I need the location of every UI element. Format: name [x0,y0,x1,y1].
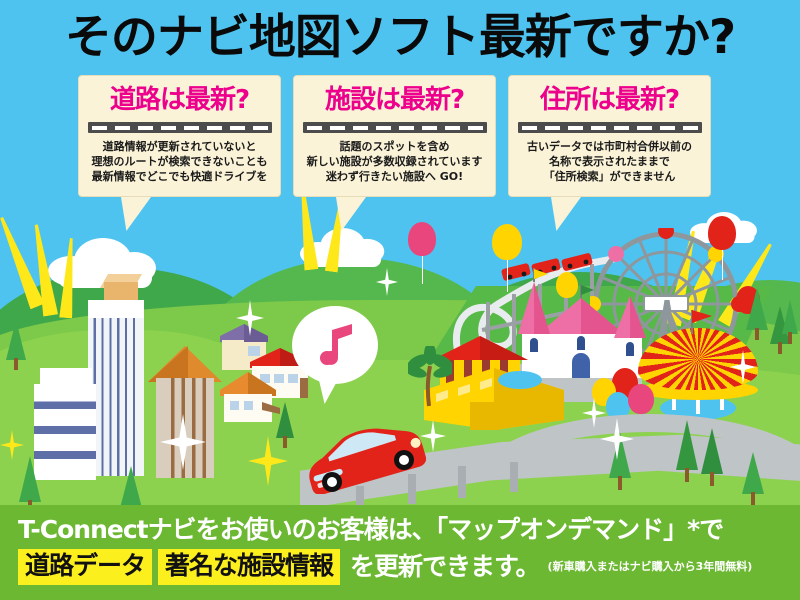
road-pillar [510,462,518,492]
tree-icon [780,300,800,344]
road-pillar [458,466,466,498]
tree-icon [744,288,770,340]
bubble-body: 古いデータでは市町村合併以前の 名称で表示されたままで 「住所検索」ができません [509,139,710,184]
road-divider-icon [518,122,702,133]
tree-icon [274,402,296,448]
banner-tail-text: を更新できます。 [350,552,540,582]
highlight-facility-info: 著名な施設情報 [158,549,340,585]
bubble-body-line: 迷わず行きたい施設へ GO! [294,169,495,184]
banner-headline: T-Connectナビをお使いのお客様は、「マップオンデマンド」*で [0,505,800,546]
bubble-title: 道路は最新? [79,83,280,117]
tree-icon [740,452,766,506]
road-divider-icon [303,122,487,133]
office-tower-icon [88,318,144,476]
bottom-banner: T-Connectナビをお使いのお客様は、「マップオンデマンド」*で 道路データ… [0,505,800,600]
bubble-title: 施設は最新? [294,83,495,117]
bubble-body: 道路情報が更新されていないと 理想のルートが検索できないことも 最新情報でどこで… [79,139,280,184]
balloon-icon [492,224,522,260]
balloon-icon [708,216,736,250]
road-divider-icon [88,122,272,133]
bubble-body: 話題のスポットを含め 新しい施設が多数収録されています 迷わず行きたい施設へ G… [294,139,495,184]
banner-fine-print: (新車購入またはナビ購入から3年間無料) [548,552,753,582]
music-note-icon [320,322,354,366]
bubble-body-line: 「住所検索」ができません [509,169,710,184]
info-bubble-road: 道路は最新? 道路情報が更新されていないと 理想のルートが検索できないことも 最… [78,75,281,197]
balloon-icon [408,222,436,256]
highlight-road-data: 道路データ [18,549,152,585]
palm-tree-icon [408,346,452,408]
bubble-title: 住所は最新? [509,83,710,117]
banner-second-line: 道路データ 著名な施設情報 を更新できます。 (新車購入またはナビ購入から3年間… [0,546,800,585]
info-bubble-facility: 施設は最新? 話題のスポットを含め 新しい施設が多数収録されています 迷わず行き… [293,75,496,197]
info-bubble-address: 住所は最新? 古いデータでは市町村合併以前の 名称で表示されたままで 「住所検索… [508,75,711,197]
tree-icon [4,320,28,370]
red-car-icon [296,424,430,494]
bubble-body-line: 最新情報でどこでも快適ドライブを [79,169,280,184]
office-tower-top [88,300,144,320]
bubble-body-line: 道路情報が更新されていないと [79,139,280,154]
poster-root: そのナビ地図ソフト最新ですか? 道路は最新? 道路情報が更新されていないと 理想… [0,0,800,600]
balloon-icon [628,384,654,414]
page-title: そのナビ地図ソフト最新ですか? [0,8,800,68]
bubble-body-line: 名称で表示されたままで [509,154,710,169]
bubble-body-line: 話題のスポットを含め [294,139,495,154]
tree-icon [698,428,726,486]
balloon-icon [556,272,578,298]
bubble-body-line: 新しい施設が多数収録されています [294,154,495,169]
bubble-body-line: 理想のルートが検索できないことも [79,154,280,169]
bubble-body-line: 古いデータでは市町村合併以前の [509,139,710,154]
